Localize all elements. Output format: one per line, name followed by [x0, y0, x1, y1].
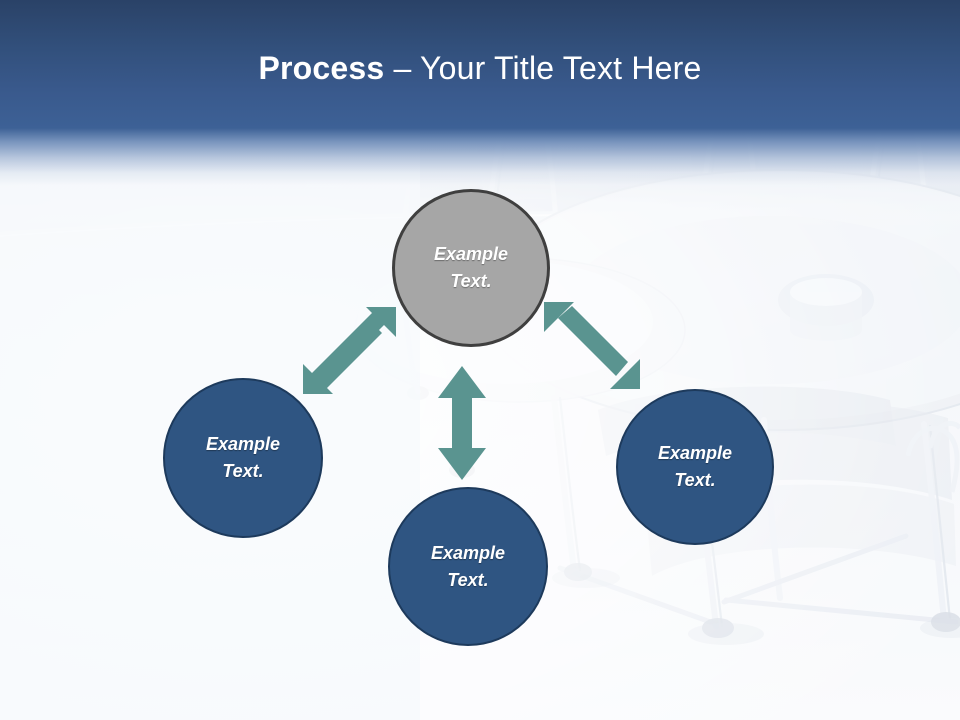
process-node-bottom[interactable]: Example Text.	[388, 487, 548, 646]
node-label-line1: Example	[206, 431, 280, 458]
node-label-line2: Text.	[674, 467, 715, 494]
process-node-right[interactable]: Example Text.	[616, 389, 774, 545]
process-node-left[interactable]: Example Text.	[163, 378, 323, 538]
node-label-line2: Text.	[447, 567, 488, 594]
node-label-line1: Example	[431, 540, 505, 567]
arrow-right-to-top	[540, 298, 644, 392]
node-label-line2: Text.	[222, 458, 263, 485]
node-label-line2: Text.	[450, 268, 491, 295]
process-node-top[interactable]: Example Text.	[392, 189, 550, 347]
arrow-bottom-to-top	[437, 366, 487, 480]
arrow-left-to-top	[296, 303, 400, 397]
node-label-line1: Example	[434, 241, 508, 268]
slide-canvas: Process – Your Title Text Here	[0, 0, 960, 720]
node-label-line1: Example	[658, 440, 732, 467]
